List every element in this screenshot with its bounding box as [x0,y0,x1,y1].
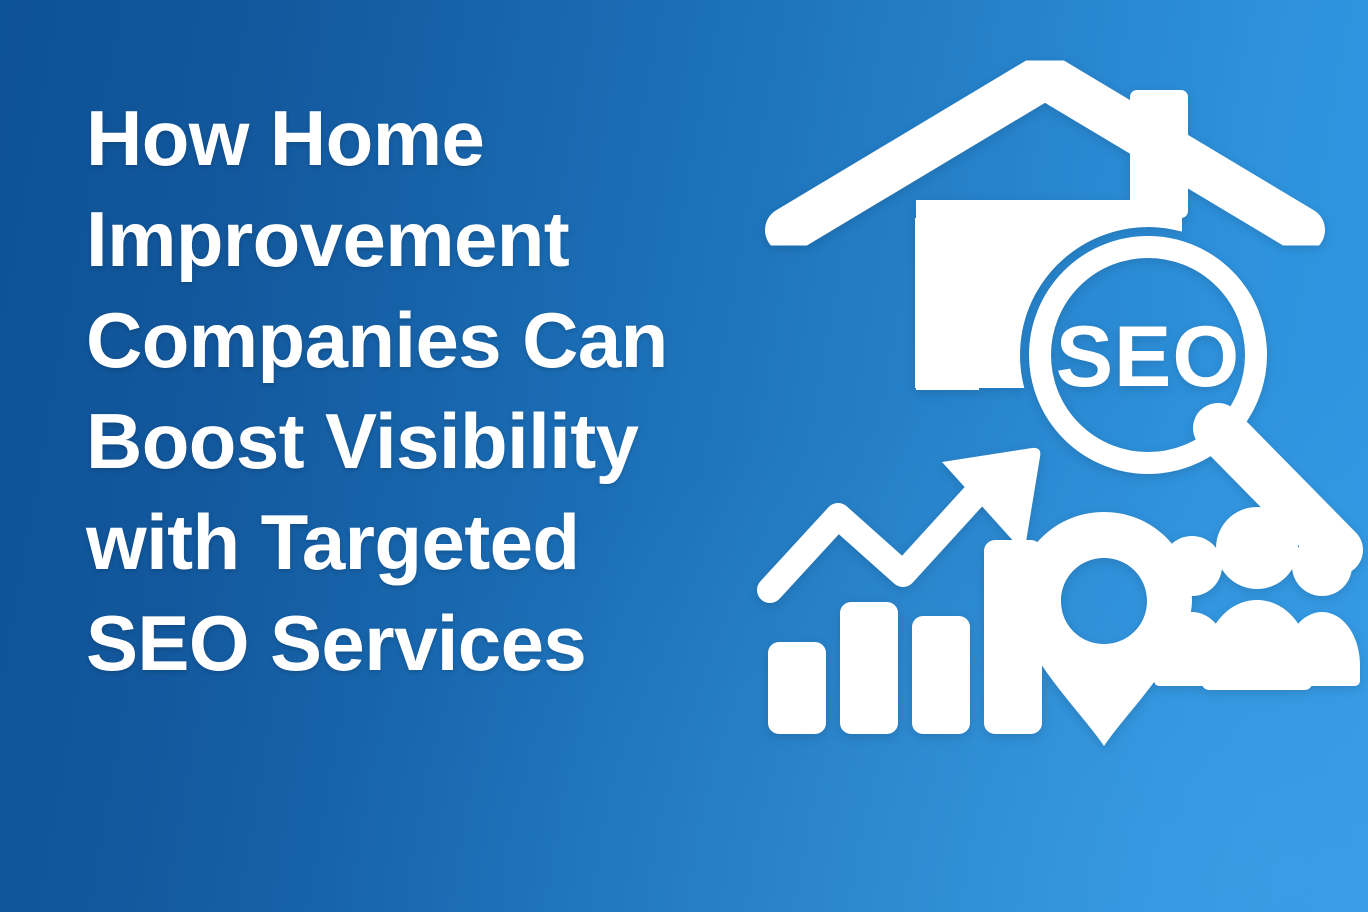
person-center-body [1202,600,1312,690]
chart-trend-line [770,484,985,590]
home-seo-illustration: SEO [740,50,1368,770]
person-center-head [1216,507,1298,589]
page-title: How Home Improvement Companies Can Boost… [86,88,786,694]
person-left-head [1162,536,1222,596]
chart-bar-3 [912,616,970,734]
growth-chart-icon [768,448,1042,734]
headline-line-1: How Home [86,88,786,189]
headline-line-4: Boost Visibility [86,391,786,492]
chart-bar-2 [840,602,898,734]
person-right-head [1292,536,1352,596]
headline-line-5: with Targeted [86,492,786,593]
headline-line-2: Improvement [86,189,786,290]
headline-line-3: Companies Can [86,290,786,391]
headline-line-6: SEO Services [86,593,786,694]
seo-lens-label: SEO [1056,309,1241,405]
banner-canvas: How Home Improvement Companies Can Boost… [0,0,1368,912]
